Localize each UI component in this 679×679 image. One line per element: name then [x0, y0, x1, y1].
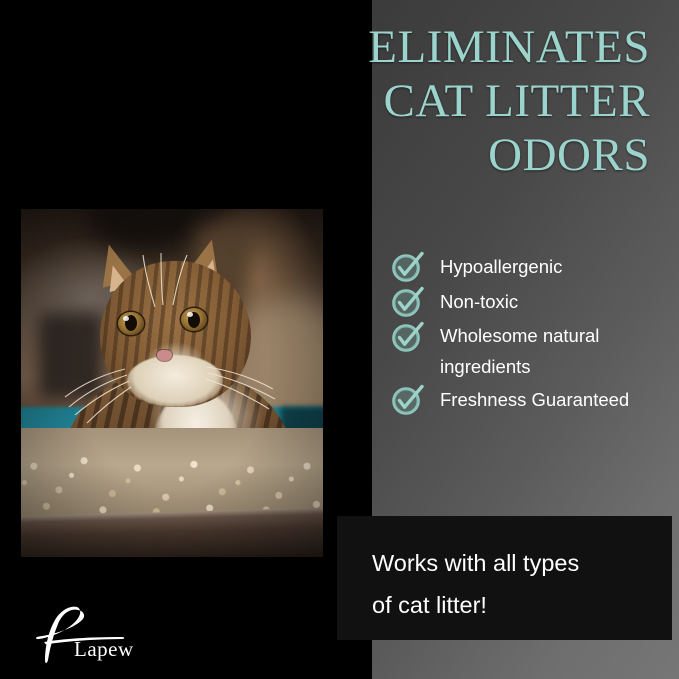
- list-item: Non-toxic: [391, 285, 671, 319]
- callout-box: Works with all types of cat litter!: [337, 516, 672, 640]
- list-item-label: Hypoallergenic: [440, 250, 562, 284]
- callout-line-2: of cat litter!: [372, 584, 672, 626]
- page-title: ELIMINATES CAT LITTER ODORS: [230, 20, 650, 182]
- check-circle-icon: [391, 319, 425, 353]
- headline-line-2: CAT LITTER: [230, 74, 650, 128]
- benefits-list: Hypoallergenic Non-toxic Wholesome n: [391, 250, 671, 418]
- check-circle-icon: [391, 284, 425, 318]
- callout-line-1: Works with all types: [372, 542, 672, 584]
- brand-logo: Lapew: [26, 604, 166, 666]
- headline-line-3: ODORS: [230, 128, 650, 182]
- photo-inner: [21, 209, 323, 557]
- product-photo: [21, 209, 323, 557]
- list-item: Hypoallergenic: [391, 250, 671, 284]
- list-item: Freshness Guaranteed: [391, 383, 671, 417]
- list-item: Wholesome natural ingredients: [391, 320, 671, 382]
- check-circle-icon: [391, 382, 425, 416]
- photo-vignette: [21, 209, 323, 557]
- list-item-label: Freshness Guaranteed: [440, 383, 629, 417]
- check-circle-icon: [391, 249, 425, 283]
- list-item-label: Wholesome natural ingredients: [440, 320, 671, 382]
- list-item-label: Non-toxic: [440, 285, 518, 319]
- brand-wordmark: Lapew: [74, 637, 134, 662]
- callout-text: Works with all types of cat litter!: [372, 542, 672, 626]
- product-ad-banner: ELIMINATES CAT LITTER ODORS Hypoallergen…: [0, 0, 679, 679]
- headline-line-1: ELIMINATES: [230, 20, 650, 74]
